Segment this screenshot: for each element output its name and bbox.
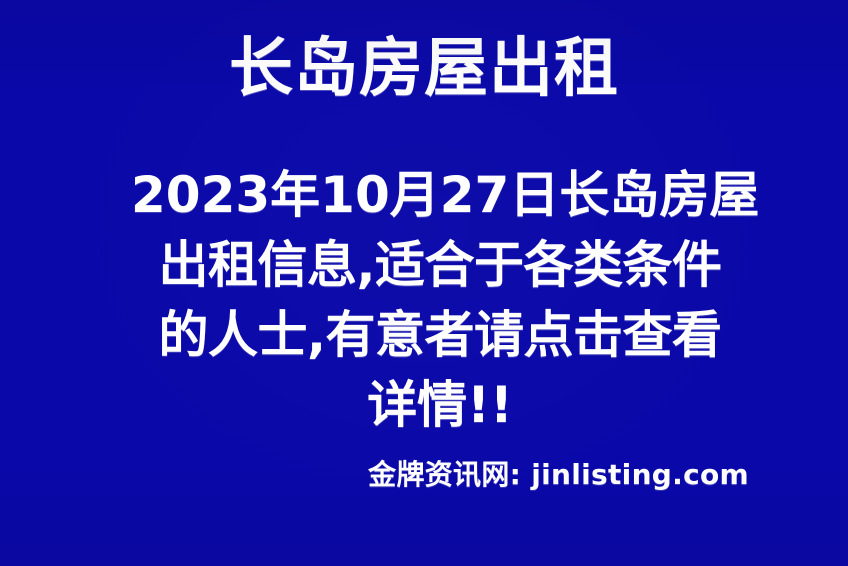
announcement-line-4: 详情!! — [131, 370, 749, 440]
page-title: 长岛房屋出租 — [0, 33, 848, 105]
announcement-body: 2023年10月27日长岛房屋 出租信息,适合于各类条件 的人士,有意者请点击查… — [131, 160, 749, 440]
announcement-line-3: 的人士,有意者请点击查看 — [131, 300, 749, 370]
announcement-line-1: 2023年10月27日长岛房屋 — [131, 160, 749, 230]
rental-poster: 长岛房屋出租 2023年10月27日长岛房屋 出租信息,适合于各类条件 的人士,… — [0, 0, 848, 566]
site-attribution: 金牌资讯网: jinlisting.com — [0, 458, 749, 492]
announcement-line-2: 出租信息,适合于各类条件 — [131, 230, 749, 300]
